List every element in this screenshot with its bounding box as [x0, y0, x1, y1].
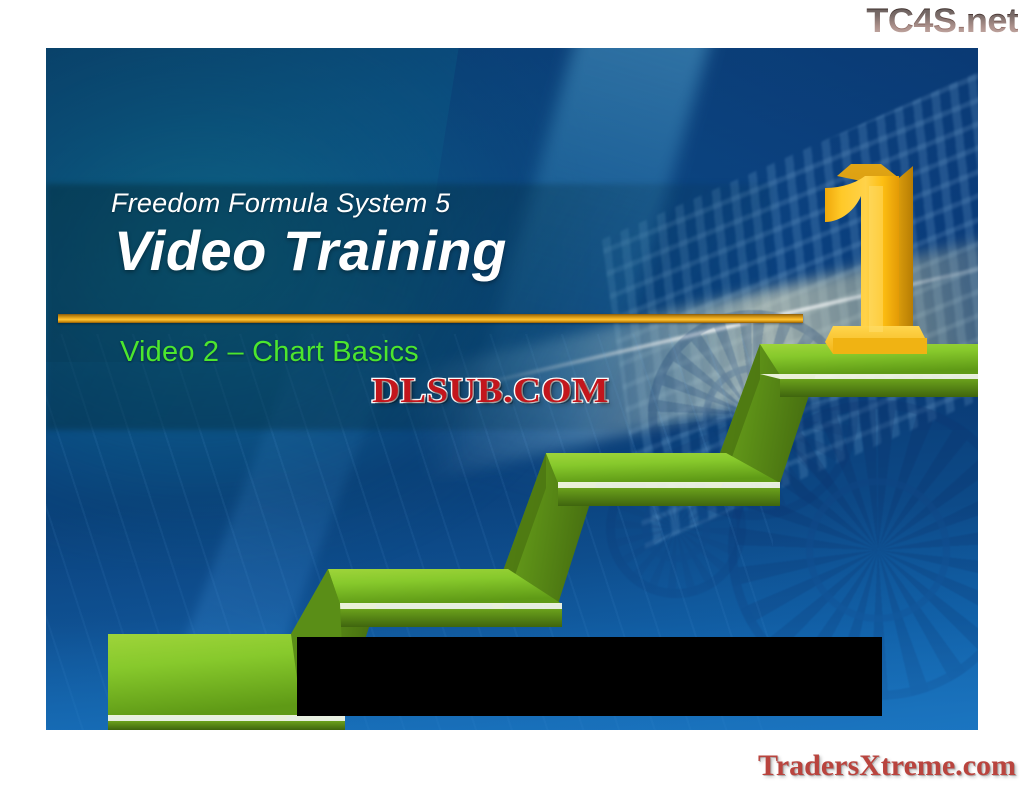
slide-page: TC4S.net	[0, 0, 1024, 791]
dlsub-watermark: DLSUB.COM	[372, 371, 609, 411]
number-one-highlight	[869, 186, 883, 332]
tradersxtreme-watermark: TradersXtreme.com	[758, 749, 1016, 783]
presentation-slide: Freedom Formula System 5 Video Training …	[46, 48, 978, 730]
page-title: Video Training	[114, 221, 848, 281]
redaction-bar	[297, 637, 882, 716]
number-one-extrude-side	[899, 166, 913, 338]
tc4s-watermark: TC4S.net	[866, 2, 1018, 41]
slide-kicker: Freedom Formula System 5	[111, 188, 848, 219]
number-one-base-front	[833, 338, 927, 354]
gold-divider-line	[58, 314, 803, 323]
title-text-block: Freedom Formula System 5 Video Training	[108, 188, 848, 281]
slide-subtitle: Video 2 – Chart Basics	[120, 336, 419, 369]
